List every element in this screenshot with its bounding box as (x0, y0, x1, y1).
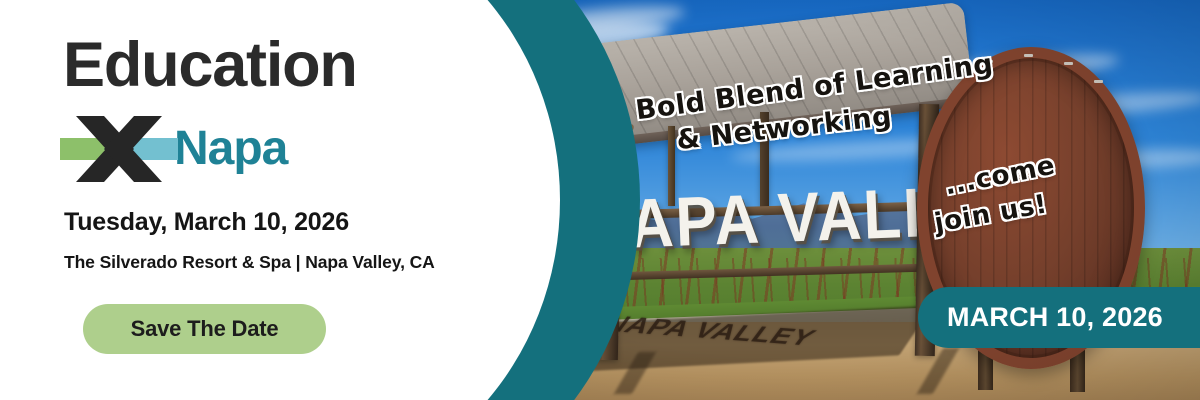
brand-logo-word: Napa (174, 125, 287, 173)
left-content-panel: Education Napa Tuesday, March 10, 2026 T… (0, 0, 470, 400)
save-the-date-button[interactable]: Save The Date (83, 304, 326, 354)
x-arrows-icon (60, 116, 178, 182)
brand-logo: Napa (60, 113, 287, 185)
save-the-date-email-banner: NAPA VALLEY NAPA VALLEY (0, 0, 1200, 400)
barrel-hoop-mark (1024, 54, 1033, 57)
barrel-hoop-mark (1064, 62, 1073, 65)
event-venue: The Silverado Resort & Spa | Napa Valley… (64, 252, 435, 273)
sign-crossbar-bottom (580, 263, 960, 282)
page-title: Education (63, 34, 357, 97)
date-badge-label: MARCH 10, 2026 (947, 302, 1163, 333)
barrel-hoop-mark (1094, 80, 1103, 83)
date-badge: MARCH 10, 2026 (918, 287, 1200, 348)
event-date: Tuesday, March 10, 2026 (64, 208, 349, 237)
